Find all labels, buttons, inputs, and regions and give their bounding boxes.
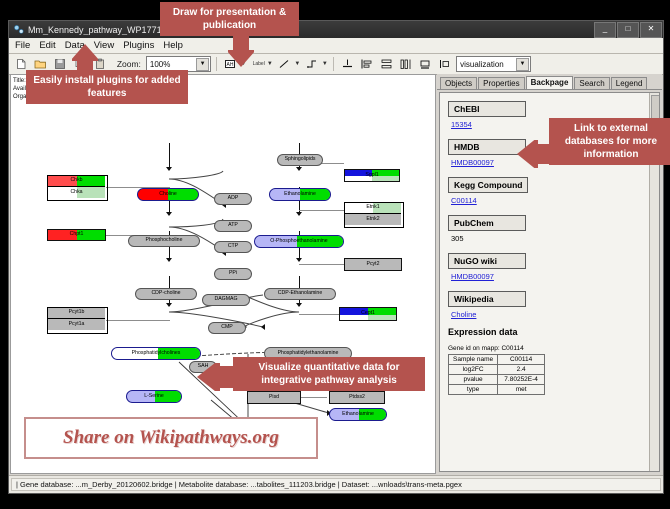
node-ethanolamine-top[interactable]: Ethanolamine xyxy=(269,188,331,201)
status-bar: | Gene database: ...m_Derby_20120602.bri… xyxy=(9,475,663,493)
db-link-nugo-wiki[interactable]: HMDB00097 xyxy=(451,272,651,281)
node-label: Phosphatidylethanolamine xyxy=(278,351,339,356)
node-label: Phosphatidylcholines xyxy=(132,351,181,356)
node-label: ATP xyxy=(228,223,238,228)
node-pcyt1b[interactable]: Pcyt1b xyxy=(48,308,105,319)
pathvisio-icon xyxy=(13,24,24,35)
node-label: CTP xyxy=(228,244,238,249)
label-tool-label[interactable]: Label xyxy=(253,61,265,67)
table-cell-key: type xyxy=(449,385,498,395)
callout-draw-pointer xyxy=(228,34,254,68)
menu-item-plugins[interactable]: Plugins xyxy=(123,40,154,51)
node-label: Etnk1 xyxy=(366,205,379,210)
db-header-hmdb: HMDB xyxy=(448,139,526,155)
node-label: Chka xyxy=(70,190,82,195)
node-label: L-Serine xyxy=(144,394,164,399)
node-label: DAGMAG xyxy=(214,297,237,302)
node-label: Sphingolipids xyxy=(285,157,316,162)
menu-item-edit[interactable]: Edit xyxy=(39,40,55,51)
menu-item-file[interactable]: File xyxy=(15,40,30,51)
callout-links: Link to external databases for more info… xyxy=(549,118,670,165)
callout-visualize-pointer xyxy=(196,363,238,391)
node-label: Ethanolamine xyxy=(284,192,316,197)
node-pisd[interactable]: Pisd xyxy=(247,391,301,404)
table-row: type met xyxy=(449,385,545,395)
align-columns-icon[interactable] xyxy=(397,56,414,73)
zoom-label: Zoom: xyxy=(117,59,141,69)
node-l-serine-left[interactable]: L-Serine xyxy=(126,390,182,403)
tab-properties[interactable]: Properties xyxy=(478,77,524,89)
db-link-wikipedia[interactable]: Choline xyxy=(451,310,651,319)
tab-search[interactable]: Search xyxy=(574,77,609,89)
tab-legend[interactable]: Legend xyxy=(611,77,648,89)
gene-id-on-mapp: Gene id on mapp: C00114 xyxy=(448,345,651,352)
ungroup-icon[interactable] xyxy=(437,56,454,73)
pathway-canvas[interactable]: Title: Availa Organ xyxy=(10,74,436,474)
node-label: Choline xyxy=(159,192,177,197)
arrow-icon xyxy=(261,324,265,330)
node-cdp-choline[interactable]: CDP-choline xyxy=(135,288,197,300)
node-label: Pcyt1a xyxy=(69,322,85,327)
status-text: | Gene database: ...m_Derby_20120602.bri… xyxy=(11,478,661,491)
node-phosphatidylcholines[interactable]: Phosphatidylcholines xyxy=(111,347,201,360)
node-label: Chpt1 xyxy=(70,232,84,237)
tab-objects[interactable]: Objects xyxy=(440,77,477,89)
node-chka[interactable]: Chka xyxy=(48,187,105,198)
node-atp[interactable]: ATP xyxy=(214,220,252,232)
table-cell-key: log2FC xyxy=(449,365,498,375)
tab-backpage[interactable]: Backpage xyxy=(526,76,574,89)
toolbar-separator xyxy=(333,57,334,71)
connector-icon[interactable] xyxy=(303,56,320,73)
node-ptdss2[interactable]: Ptdss2 xyxy=(329,391,385,404)
node-sgpl1[interactable]: Sgpl1 xyxy=(344,169,400,182)
minimize-button[interactable]: _ xyxy=(594,22,616,38)
chevron-down-icon[interactable]: ▼ xyxy=(516,58,529,71)
node-adp[interactable]: ADP xyxy=(214,193,252,205)
node-cmp[interactable]: CMP xyxy=(208,322,246,334)
node-label: ADP xyxy=(228,196,239,201)
chevron-down-icon[interactable]: ▼ xyxy=(294,61,300,67)
table-row: Sample name C00114 xyxy=(449,355,545,365)
side-panel-tabs: Objects Properties Backpage Search Legen… xyxy=(437,74,662,90)
db-header-kegg-compound: Kegg Compound xyxy=(448,177,528,193)
node-label: Cept1 xyxy=(361,311,375,316)
group-icon[interactable] xyxy=(417,56,434,73)
expression-data-title: Expression data xyxy=(448,327,651,337)
node-label: Sgpl1 xyxy=(365,173,378,178)
anchor-icon[interactable] xyxy=(339,56,356,73)
node-label: PPi xyxy=(229,271,237,276)
node-ethanolamine-bottom[interactable]: Ethanolamine xyxy=(329,408,387,421)
db-link-kegg-compound[interactable]: C00114 xyxy=(451,196,651,205)
close-button[interactable]: ✕ xyxy=(640,22,662,38)
node-pcyt2[interactable]: Pcyt2 xyxy=(344,258,402,271)
callout-draw: Draw for presentation & publication xyxy=(160,2,299,36)
node-label: Ethanolamine xyxy=(342,412,374,417)
gene-group-pcyt1: Pcyt1b Pcyt1a xyxy=(47,307,108,334)
node-o-phosphoethanolamine[interactable]: O-Phosphoethanolamine xyxy=(254,235,344,248)
gene-group-chk: Chkb Chka xyxy=(47,175,108,201)
db-value-pubchem: 305 xyxy=(451,234,651,243)
node-label: CDP-Ethanolamine xyxy=(278,291,322,296)
node-label: Etnk2 xyxy=(366,217,379,222)
node-choline-top[interactable]: Choline xyxy=(137,188,199,201)
node-label: Chkb xyxy=(70,178,82,183)
node-pcyt1a[interactable]: Pcyt1a xyxy=(48,319,105,330)
expression-table: Sample name C00114 log2FC 2.4 pvalue 7.8… xyxy=(448,354,545,395)
node-ctp[interactable]: CTP xyxy=(214,241,252,253)
node-label: Pcyt1b xyxy=(69,310,85,315)
window-controls: _ □ ✕ xyxy=(594,22,663,38)
screenshot-root: Mm_Kennedy_pathway_WP1771_45176.gpml _ □… xyxy=(0,0,670,509)
node-label: Pcyt2 xyxy=(367,262,380,267)
menu-bar: File Edit Data View Plugins Help xyxy=(9,38,663,54)
visualization-combobox[interactable]: visualization ▼ xyxy=(456,56,531,72)
node-label: Pisd xyxy=(269,395,279,400)
node-chpt1[interactable]: Chpt1 xyxy=(47,229,106,241)
chevron-down-icon[interactable]: ▼ xyxy=(196,58,209,71)
db-header-pubchem: PubChem xyxy=(448,215,526,231)
node-label: Phosphocholine xyxy=(146,238,183,243)
node-dagmag[interactable]: DAGMAG xyxy=(202,294,250,306)
node-chkb[interactable]: Chkb xyxy=(48,176,105,187)
node-label: CMP xyxy=(221,325,233,330)
chevron-down-icon[interactable]: ▼ xyxy=(322,61,328,67)
zoom-value: 100% xyxy=(150,60,170,69)
node-ppi[interactable]: PPi xyxy=(214,268,252,280)
callout-share: Share on Wikipathways.org xyxy=(24,417,318,459)
node-label: O-Phosphoethanolamine xyxy=(270,239,327,244)
callout-visualize: Visualize quantitative data for integrat… xyxy=(233,357,425,391)
line-icon[interactable] xyxy=(276,56,293,73)
visualization-value: visualization xyxy=(460,60,504,69)
callout-plugins: Easily install plugins for added feature… xyxy=(26,70,188,104)
table-cell-key: Sample name xyxy=(449,355,498,365)
table-row: log2FC 2.4 xyxy=(449,365,545,375)
db-header-nugo-wiki: NuGO wiki xyxy=(448,253,526,269)
node-cdp-ethanolamine[interactable]: CDP-Ethanolamine xyxy=(264,288,336,300)
node-etnk1[interactable]: Etnk1 xyxy=(345,203,401,214)
node-phosphocholine[interactable]: Phosphocholine xyxy=(128,235,200,247)
align-rows-icon[interactable] xyxy=(378,56,395,73)
table-cell-key: pvalue xyxy=(449,375,498,385)
table-cell-value: 7.80252E-4 xyxy=(498,375,545,385)
table-cell-value: 2.4 xyxy=(498,365,545,375)
table-row: pvalue 7.80252E-4 xyxy=(449,375,545,385)
table-cell-value: met xyxy=(498,385,545,395)
node-label: Ptdss2 xyxy=(349,395,365,400)
menu-item-help[interactable]: Help xyxy=(163,40,183,51)
node-cept1[interactable]: Cept1 xyxy=(339,307,397,321)
table-cell-value: C00114 xyxy=(498,355,545,365)
align-left-icon[interactable] xyxy=(358,56,375,73)
gene-group-etnk: Etnk1 Etnk2 xyxy=(344,202,404,228)
maximize-button[interactable]: □ xyxy=(617,22,639,38)
toolbar-separator xyxy=(216,57,217,71)
db-header-chebi: ChEBI xyxy=(448,101,526,117)
chevron-down-icon[interactable]: ▼ xyxy=(267,61,273,67)
node-etnk2[interactable]: Etnk2 xyxy=(345,214,401,225)
share-text: Share on Wikipathways.org xyxy=(63,427,279,449)
title-bar: Mm_Kennedy_pathway_WP1771_45176.gpml _ □… xyxy=(9,21,663,38)
db-header-wikipedia: Wikipedia xyxy=(448,291,526,307)
node-label: CDP-choline xyxy=(151,291,180,296)
node-sphingolipids[interactable]: Sphingolipids xyxy=(277,154,323,166)
